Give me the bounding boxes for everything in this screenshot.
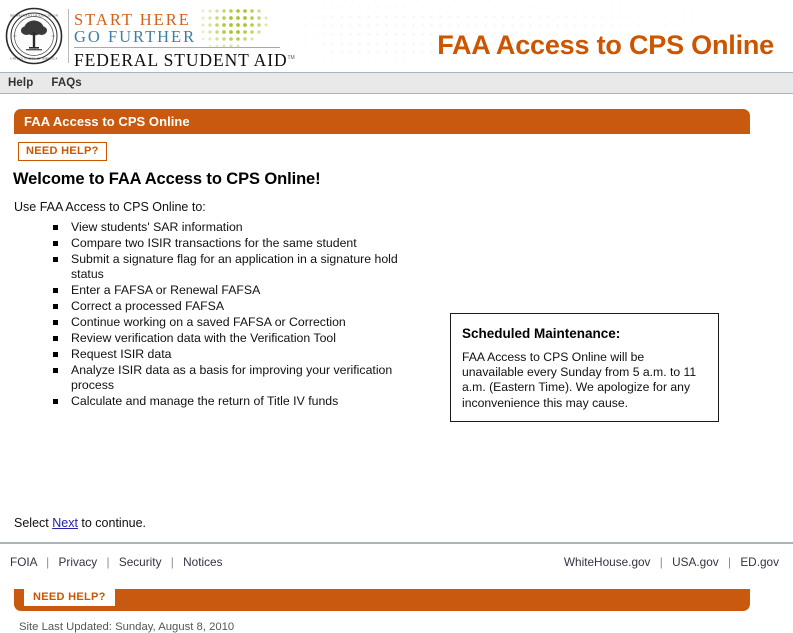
- nav-item-faqs[interactable]: FAQs: [51, 77, 81, 89]
- welcome-heading: Welcome to FAA Access to CPS Online!: [13, 170, 321, 189]
- select-next-suffix: to continue.: [78, 516, 146, 530]
- feature-list: View students' SAR information Compare t…: [53, 220, 413, 410]
- list-item: Request ISIR data: [53, 347, 413, 362]
- page-title: FAA Access to CPS Online: [437, 30, 774, 61]
- logo-rule: [74, 47, 280, 48]
- footer-link-foia[interactable]: FOIA: [10, 555, 37, 569]
- need-help-button-bottom[interactable]: NEED HELP?: [24, 589, 115, 606]
- page-body: FAA Access to CPS Online NEED HELP? Welc…: [0, 94, 793, 542]
- list-item: Enter a FAFSA or Renewal FAFSA: [53, 283, 413, 298]
- scheduled-maintenance-notice: Scheduled Maintenance: FAA Access to CPS…: [450, 313, 719, 422]
- svg-text:UNITED STATES OF AMERICA: UNITED STATES OF AMERICA: [10, 56, 58, 60]
- footer-link-notices[interactable]: Notices: [183, 555, 222, 569]
- footer-links-right: WhiteHouse.gov | USA.gov | ED.gov: [564, 555, 779, 569]
- footer-link-privacy[interactable]: Privacy: [59, 555, 98, 569]
- list-item: Analyze ISIR data as a basis for improvi…: [53, 363, 413, 394]
- federal-student-aid-logo: START HERE GO FURTHER FEDERAL STUDENT AI…: [74, 11, 289, 70]
- footer-links-left: FOIA | Privacy | Security | Notices: [10, 555, 222, 569]
- logo-divider: [68, 9, 69, 63]
- page-footer: FOIA | Privacy | Security | Notices Whit…: [0, 542, 793, 589]
- list-item: Submit a signature flag for an applicati…: [53, 252, 413, 283]
- list-item: View students' SAR information: [53, 220, 413, 235]
- logo-tagline-start-here: START HERE: [74, 11, 289, 28]
- intro-text: Use FAA Access to CPS Online to:: [14, 200, 206, 214]
- site-last-updated-text: Site Last Updated: Sunday, August 8, 201…: [19, 621, 234, 633]
- section-header-title: FAA Access to CPS Online: [24, 114, 190, 129]
- maintenance-title: Scheduled Maintenance:: [462, 326, 705, 341]
- list-item: Continue working on a saved FAFSA or Cor…: [53, 315, 413, 330]
- top-navigation-bar: Help FAQs: [0, 72, 793, 94]
- footer-separator: |: [654, 555, 669, 569]
- list-item: Calculate and manage the return of Title…: [53, 394, 413, 409]
- footer-separator: |: [165, 555, 180, 569]
- footer-link-whitehouse[interactable]: WhiteHouse.gov: [564, 555, 651, 569]
- footer-separator: |: [101, 555, 116, 569]
- footer-separator: |: [40, 555, 55, 569]
- footer-link-security[interactable]: Security: [119, 555, 162, 569]
- select-next-instruction: Select Next to continue.: [14, 516, 146, 530]
- list-item: Compare two ISIR transactions for the sa…: [53, 236, 413, 251]
- svg-text:DEPARTMENT OF EDUCATION: DEPARTMENT OF EDUCATION: [10, 14, 59, 18]
- brand-banner: DEPARTMENT OF EDUCATION UNITED STATES OF…: [0, 0, 793, 72]
- next-link[interactable]: Next: [52, 516, 78, 530]
- logo-tagline-go-further: GO FURTHER: [74, 28, 289, 45]
- nav-item-help[interactable]: Help: [8, 77, 33, 89]
- footer-separator: |: [722, 555, 737, 569]
- list-item: Review verification data with the Verifi…: [53, 331, 413, 346]
- select-next-prefix: Select: [14, 516, 52, 530]
- footer-link-usa-gov[interactable]: USA.gov: [672, 555, 719, 569]
- dept-of-education-seal-icon: DEPARTMENT OF EDUCATION UNITED STATES OF…: [5, 7, 63, 65]
- need-help-button-top[interactable]: NEED HELP?: [18, 142, 107, 161]
- maintenance-body: FAA Access to CPS Online will be unavail…: [462, 350, 705, 411]
- trademark-symbol: TM: [288, 55, 295, 61]
- logo-federal-student-aid: FEDERAL STUDENT AIDTM: [74, 49, 289, 70]
- section-header-bar: FAA Access to CPS Online: [14, 109, 750, 134]
- list-item: Correct a processed FAFSA: [53, 299, 413, 314]
- logo-federal-student-aid-text: FEDERAL STUDENT AID: [74, 50, 288, 70]
- footer-link-ed-gov[interactable]: ED.gov: [740, 555, 779, 569]
